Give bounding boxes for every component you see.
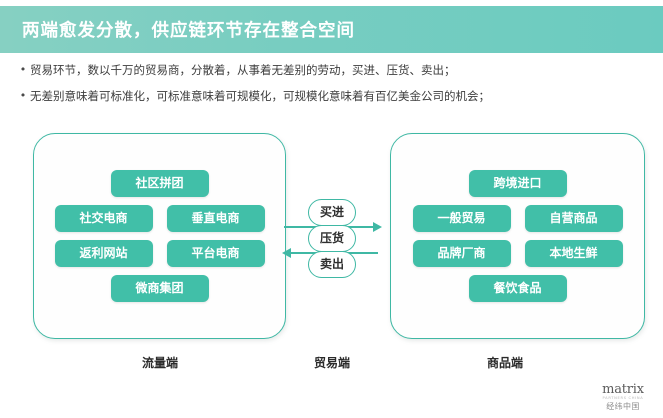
caption-trade-side: 贸易端: [297, 354, 367, 371]
tag-row: 社交电商 垂直电商: [48, 205, 271, 232]
tag-row: 返利网站 平台电商: [48, 240, 271, 267]
traffic-tag-grid: 社区拼团 社交电商 垂直电商 返利网站 平台电商 微商集团: [34, 134, 285, 338]
tag-item[interactable]: 餐饮食品: [469, 275, 567, 302]
tag-item[interactable]: 品牌厂商: [413, 240, 511, 267]
bullet-dot-icon: •: [16, 60, 30, 80]
tag-item[interactable]: 自营商品: [525, 205, 623, 232]
tag-item[interactable]: 跨境进口: [469, 170, 567, 197]
goods-side-panel: 跨境进口 一般贸易 自营商品 品牌厂商 本地生鲜 餐饮食品: [390, 133, 645, 339]
pill-stock[interactable]: 压货: [308, 225, 356, 252]
tag-row: 一般贸易 自营商品: [405, 205, 630, 232]
logo-wordmark: matrix: [592, 383, 654, 396]
logo-chinese-name: 经纬中国: [592, 403, 654, 411]
tag-item[interactable]: 一般贸易: [413, 205, 511, 232]
tag-item[interactable]: 本地生鲜: [525, 240, 623, 267]
bullet-item: • 无差别意味着可标准化，可标准意味着可规模化，可规模化意味着有百亿美金公司的机…: [16, 86, 656, 106]
bullet-item: • 贸易环节，数以千万的贸易商，分散着，从事着无差别的劳动，买进、压货、卖出；: [16, 60, 656, 80]
bullet-text: 贸易环节，数以千万的贸易商，分散着，从事着无差别的劳动，买进、压货、卖出；: [30, 60, 456, 80]
pill-sell[interactable]: 卖出: [308, 251, 356, 278]
tag-item[interactable]: 平台电商: [167, 240, 265, 267]
trade-stage-pill-stack: 买进 压货 卖出: [308, 199, 356, 277]
logo-subtitle: PARTNERS CHINA: [592, 397, 654, 401]
bullet-text: 无差别意味着可标准化，可标准意味着可规模化，可规模化意味着有百亿美金公司的机会；: [30, 86, 490, 106]
tag-item[interactable]: 微商集团: [111, 275, 209, 302]
bullet-list: • 贸易环节，数以千万的贸易商，分散着，从事着无差别的劳动，买进、压货、卖出； …: [16, 60, 656, 112]
caption-goods-side: 商品端: [470, 354, 540, 371]
tag-item[interactable]: 返利网站: [55, 240, 153, 267]
pill-buy[interactable]: 买进: [308, 199, 356, 226]
matrix-partners-logo: matrix PARTNERS CHINA 经纬中国: [592, 383, 654, 411]
sell-flow-arrow-head-icon: [282, 248, 291, 258]
tag-row: 微商集团: [48, 275, 271, 302]
slide-title-bar: 两端愈发分散，供应链环节存在整合空间: [0, 6, 663, 53]
tag-item[interactable]: 垂直电商: [167, 205, 265, 232]
tag-row: 社区拼团: [48, 170, 271, 197]
caption-traffic-side: 流量端: [125, 354, 195, 371]
buy-flow-arrow-head-icon: [373, 222, 382, 232]
tag-row: 餐饮食品: [405, 275, 630, 302]
tag-row: 跨境进口: [405, 170, 630, 197]
tag-row: 品牌厂商 本地生鲜: [405, 240, 630, 267]
tag-item[interactable]: 社区拼团: [111, 170, 209, 197]
goods-tag-grid: 跨境进口 一般贸易 自营商品 品牌厂商 本地生鲜 餐饮食品: [391, 134, 644, 338]
slide-canvas: 两端愈发分散，供应链环节存在整合空间 • 贸易环节，数以千万的贸易商，分散着，从…: [0, 0, 663, 418]
bullet-dot-icon: •: [16, 86, 30, 106]
page-title: 两端愈发分散，供应链环节存在整合空间: [22, 17, 355, 42]
traffic-side-panel: 社区拼团 社交电商 垂直电商 返利网站 平台电商 微商集团: [33, 133, 286, 339]
tag-item[interactable]: 社交电商: [55, 205, 153, 232]
